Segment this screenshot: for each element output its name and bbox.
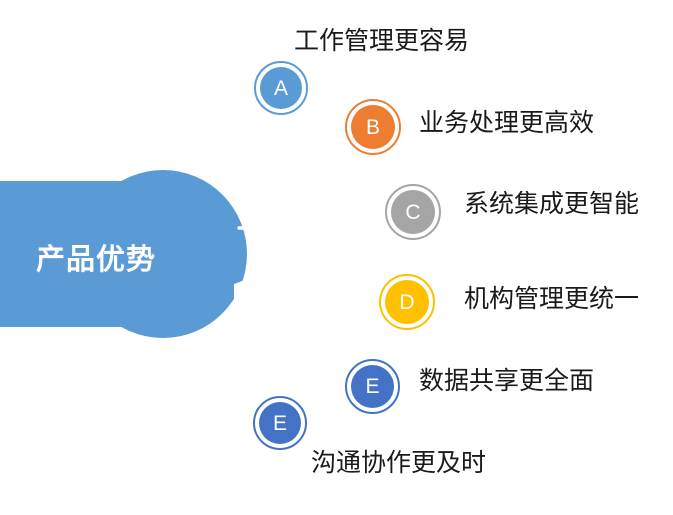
lightbulb-in-hand-icon-svg: [232, 192, 318, 312]
step-label-b: 业务处理更高效: [419, 110, 594, 138]
step-circle-e[interactable]: E: [345, 359, 400, 414]
step-circle-a[interactable]: A: [254, 61, 308, 115]
diagram-canvas: 产品优势 A B C D E E 工作管理更容易 业务处理更高效 系统集成更智能…: [0, 0, 673, 515]
lightbulb-in-hand-icon: [232, 192, 318, 312]
step-circle-c[interactable]: C: [385, 184, 441, 240]
step-letter-b: B: [366, 117, 380, 138]
step-label-a: 工作管理更容易: [294, 28, 469, 56]
banner-title: 产品优势: [36, 236, 196, 278]
step-circle-b[interactable]: B: [345, 99, 401, 155]
step-label-e: 数据共享更全面: [419, 368, 594, 396]
step-label-f: 沟通协作更及时: [311, 450, 486, 478]
step-label-d: 机构管理更统一: [464, 286, 639, 314]
step-letter-c: C: [405, 202, 420, 223]
step-letter-f: E: [273, 413, 287, 434]
step-letter-e: E: [365, 376, 379, 397]
step-circle-d[interactable]: D: [379, 274, 435, 330]
step-letter-a: A: [274, 78, 288, 99]
step-label-c: 系统集成更智能: [464, 191, 639, 219]
step-letter-d: D: [399, 292, 414, 313]
step-circle-f[interactable]: E: [253, 396, 307, 450]
